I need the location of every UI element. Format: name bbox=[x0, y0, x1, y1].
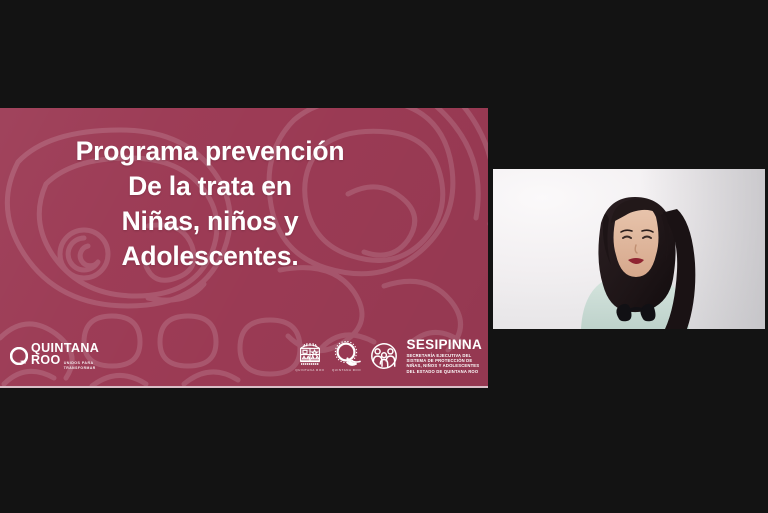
sesipinna-subtitle-line-4: DEL ESTADO DE QUINTANA ROO bbox=[407, 369, 482, 374]
coat-of-arms-icon bbox=[298, 341, 322, 367]
quintana-roo-logo: QUINTANA ROO UNIDOS PARA TRANSFORMAR bbox=[10, 342, 99, 371]
emblem-family-wrap bbox=[369, 342, 399, 370]
video-call-stage: Programa prevención De la trata en Niñas… bbox=[0, 0, 768, 513]
slide-title-line-4: Adolescentes. bbox=[0, 239, 420, 274]
sesipinna-subtitle-line-3: NIÑAS, NIÑOS Y ADOLESCENTES bbox=[407, 363, 482, 368]
slide-title: Programa prevención De la trata en Niñas… bbox=[0, 134, 420, 274]
emblem-spiral-caption: QUINTANA ROO bbox=[332, 368, 361, 372]
slide-bottom-accent-band bbox=[0, 386, 488, 388]
participant-person bbox=[493, 169, 765, 329]
emblem-estado-wrap: QUINTANA ROO bbox=[295, 341, 324, 372]
sesipinna-logo-text: SESIPINNA SECRETARÍA EJECUTIVA DEL SISTE… bbox=[407, 338, 482, 374]
sipinna-family-circle-icon bbox=[369, 342, 399, 370]
slide-footer-emblems: QUINTANA ROO QUINTANA ROO bbox=[295, 338, 482, 374]
participant-video-tile[interactable] bbox=[493, 169, 765, 329]
slide-title-line-1: Programa prevención bbox=[0, 134, 420, 169]
emblem-spiral-wrap: QUINTANA ROO bbox=[332, 341, 362, 372]
qr-tagline-line-2: TRANSFORMAR bbox=[64, 367, 96, 370]
slide-title-line-2: De la trata en bbox=[0, 169, 420, 204]
shared-slide[interactable]: Programa prevención De la trata en Niñas… bbox=[0, 108, 488, 386]
emblem-estado-caption: QUINTANA ROO bbox=[295, 368, 324, 372]
sesipinna-name: SESIPINNA bbox=[407, 338, 482, 351]
sesipinna-subtitle: SECRETARÍA EJECUTIVA DEL SISTEMA DE PROT… bbox=[407, 353, 482, 374]
spiral-q-icon bbox=[332, 341, 362, 367]
qr-name-line-2: ROO bbox=[31, 354, 61, 367]
quintana-roo-wordmark: QUINTANA ROO UNIDOS PARA TRANSFORMAR bbox=[31, 342, 99, 371]
slide-title-line-3: Niñas, niños y bbox=[0, 204, 420, 239]
quintana-roo-spiral-icon bbox=[10, 347, 28, 365]
